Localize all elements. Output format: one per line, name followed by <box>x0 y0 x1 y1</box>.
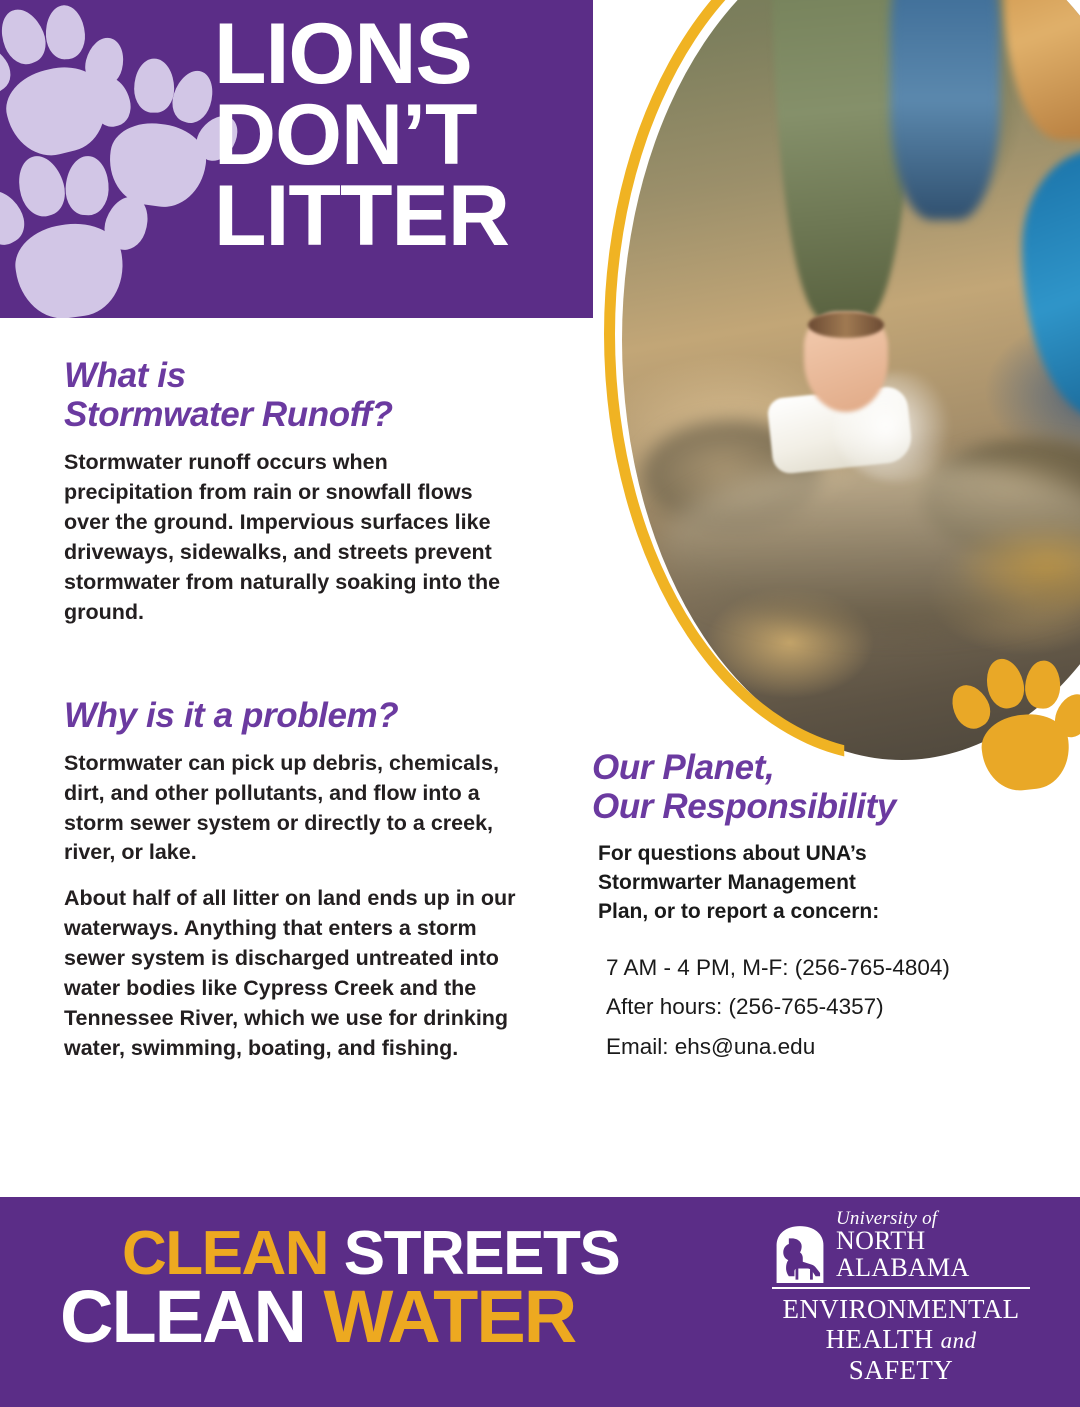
what-is-stormwater-heading: What is Stormwater Runoff? <box>64 356 516 434</box>
photo-backpack <box>1022 150 1080 420</box>
left-content-column: What is Stormwater Runoff? Stormwater ru… <box>64 356 516 1080</box>
footer-slogan: CLEAN STREETS CLEAN WATER <box>60 1225 660 1351</box>
una-ehs-logo: University of NORTH ALABAMA ENVIRONMENTA… <box>772 1209 1030 1385</box>
contact-after-hours[interactable]: After hours: (256-765-4357) <box>592 992 1034 1022</box>
logo-top-row: University of NORTH ALABAMA <box>772 1209 1030 1283</box>
our-planet-heading-line-1: Our Planet, <box>592 748 774 787</box>
why-problem-heading: Why is it a problem? <box>64 696 516 735</box>
logo-wordmark: University of NORTH ALABAMA <box>836 1209 1030 1283</box>
slogan-water: WATER <box>323 1275 575 1358</box>
contact-intro-line-2: Stormwarter Management <box>598 871 856 894</box>
logo-north-alabama: NORTH ALABAMA <box>836 1228 1030 1281</box>
why-problem-paragraph-2: About half of all litter on land ends up… <box>64 884 516 1063</box>
logo-department: ENVIRONMENTAL HEALTH and SAFETY <box>772 1294 1030 1385</box>
right-content-column: Our Planet, Our Responsibility For quest… <box>592 748 1034 1071</box>
footer-slogan-line-2: CLEAN WATER <box>60 1283 660 1352</box>
our-planet-heading-line-2: Our Responsibility <box>592 787 896 826</box>
contact-intro: For questions about UNA’s Stormwarter Ma… <box>592 840 1034 927</box>
paw-print-icon <box>0 128 167 318</box>
headline-line-3: LITTER <box>214 176 584 257</box>
logo-department-line-2: HEALTH and SAFETY <box>772 1324 1030 1384</box>
logo-department-health: HEALTH <box>826 1324 934 1354</box>
logo-department-line-1: ENVIRONMENTAL <box>772 1294 1030 1324</box>
why-problem-paragraph-1: Stormwater can pick up debris, chemicals… <box>64 749 516 869</box>
headline-line-1: LIONS <box>214 14 584 95</box>
photo-person-hair <box>1004 0 1080 140</box>
headline-line-2: DON’T <box>214 95 584 176</box>
lion-shield-icon <box>772 1225 828 1283</box>
slogan-clean-2: CLEAN <box>60 1275 305 1358</box>
section-spacer <box>64 644 516 696</box>
photo-bracelet <box>808 312 884 338</box>
poster-headline: LIONS DON’T LITTER <box>214 14 584 256</box>
what-is-heading-line-2: Stormwater Runoff? <box>64 395 393 434</box>
footer-band: CLEAN STREETS CLEAN WATER University of … <box>0 1197 1080 1407</box>
contact-business-hours[interactable]: 7 AM - 4 PM, M-F: (256-765-4804) <box>592 953 1034 983</box>
logo-department-and: and <box>941 1328 977 1353</box>
what-is-stormwater-body: Stormwater runoff occurs when precipitat… <box>64 448 516 627</box>
our-planet-heading: Our Planet, Our Responsibility <box>592 748 1034 826</box>
poster-canvas: LIONS DON’T LITTER What is Stormwater Ru… <box>0 0 1080 1407</box>
contact-intro-line-1: For questions about UNA’s <box>598 842 867 865</box>
what-is-heading-line-1: What is <box>64 356 186 395</box>
contact-intro-line-3: Plan, or to report a concern: <box>598 900 879 923</box>
contact-email[interactable]: Email: ehs@una.edu <box>592 1032 1034 1062</box>
logo-department-safety: SAFETY <box>849 1355 953 1385</box>
logo-divider <box>772 1287 1030 1289</box>
photo-person-jeans <box>890 0 1000 220</box>
